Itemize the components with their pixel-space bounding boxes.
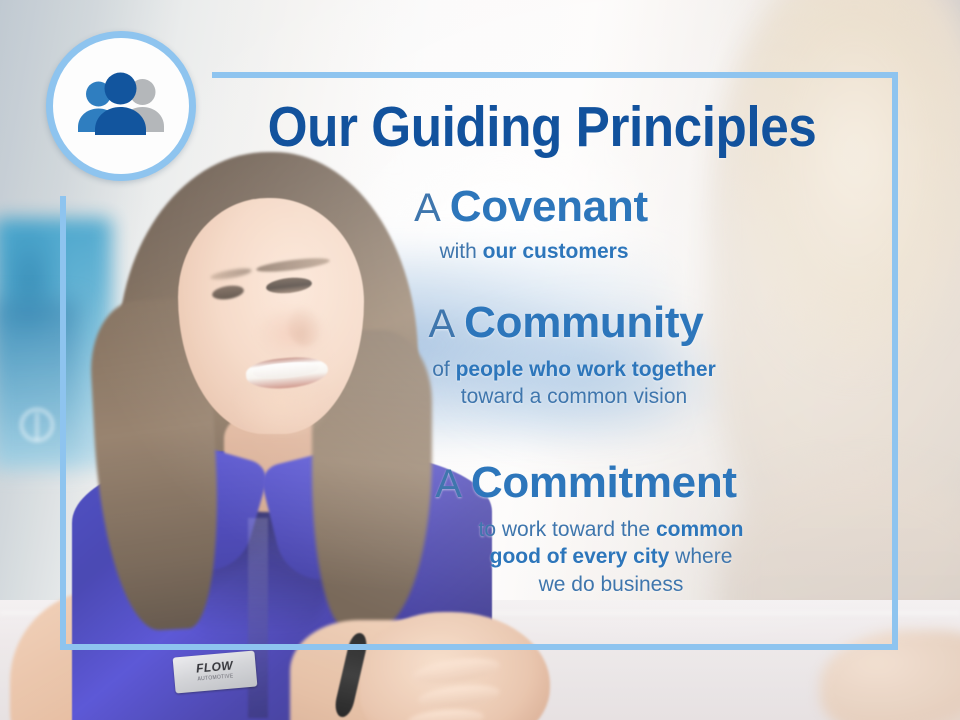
plain-text: with bbox=[439, 240, 482, 263]
principle-article: A bbox=[435, 462, 471, 506]
principle-description-line: with our customers bbox=[212, 238, 856, 265]
principle-commitment: A Commitmentto work toward the commongoo… bbox=[212, 458, 898, 598]
blurred-brand-emblem bbox=[20, 408, 54, 442]
emphasis-text: common bbox=[656, 518, 744, 541]
principle-heading: A Community bbox=[212, 298, 898, 348]
principle-keyword: Community bbox=[464, 298, 703, 347]
principle-keyword: Covenant bbox=[450, 182, 648, 231]
principle-description-line: we do business bbox=[324, 571, 898, 598]
principle-description: of people who work togethertoward a comm… bbox=[212, 356, 898, 411]
plain-text: where bbox=[669, 545, 732, 568]
text-content: Our Guiding Principles A Covenantwith ou… bbox=[212, 72, 898, 650]
principle-description: to work toward the commongood of every c… bbox=[212, 516, 898, 598]
principle-heading: A Commitment bbox=[212, 458, 898, 508]
principle-description-line: good of every city where bbox=[324, 543, 898, 570]
emphasis-text: our customers bbox=[483, 240, 629, 263]
plain-text: of bbox=[432, 358, 455, 381]
group-people-icon bbox=[69, 70, 173, 142]
subject-name-badge: FLOW AUTOMOTIVE bbox=[173, 650, 258, 693]
plain-text: to work toward the bbox=[479, 518, 656, 541]
principle-keyword: Commitment bbox=[471, 458, 737, 507]
plain-text: we do business bbox=[539, 573, 684, 596]
principle-article: A bbox=[429, 302, 465, 346]
principle-covenant: A Covenantwith our customers bbox=[212, 182, 898, 265]
emphasis-text: people who work together bbox=[456, 358, 716, 381]
emphasis-text: good of every city bbox=[490, 545, 670, 568]
principle-article: A bbox=[414, 186, 450, 230]
principle-description-line: of people who work together bbox=[250, 356, 898, 383]
page-title: Our Guiding Principles bbox=[245, 94, 839, 160]
principle-description: with our customers bbox=[212, 238, 898, 265]
principle-description-line: to work toward the common bbox=[324, 516, 898, 543]
group-people-badge bbox=[46, 31, 196, 181]
plain-text: toward a common vision bbox=[461, 385, 687, 408]
principle-community: A Communityof people who work togetherto… bbox=[212, 298, 898, 411]
principle-heading: A Covenant bbox=[212, 182, 898, 232]
guiding-principles-graphic: FLOW AUTOMOTIVE FLOW bbox=[0, 0, 960, 720]
principle-description-line: toward a common vision bbox=[250, 383, 898, 410]
